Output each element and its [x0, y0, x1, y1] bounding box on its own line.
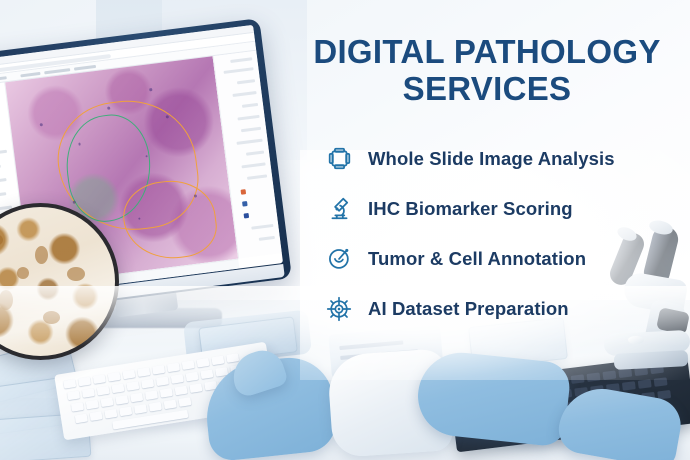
measure-color-swatch[interactable] [242, 201, 248, 207]
service-item-label: Whole Slide Image Analysis [368, 148, 615, 170]
measure-color-swatch[interactable] [244, 213, 250, 219]
service-item-ihc-biomarker-scoring[interactable]: IHC Biomarker Scoring [326, 184, 678, 234]
ihc-stain-blob [0, 234, 3, 246]
panel-row[interactable] [224, 67, 254, 74]
service-item-label: Tumor & Cell Annotation [368, 248, 586, 270]
panel-row[interactable] [241, 127, 261, 132]
service-item-label: AI Dataset Preparation [368, 298, 569, 320]
microscope-base [614, 350, 689, 370]
service-item-label: IHC Biomarker Scoring [368, 198, 573, 220]
panel-row[interactable] [232, 91, 256, 97]
microscope-stage-aperture [628, 336, 644, 344]
panel-row[interactable] [259, 236, 275, 241]
service-item-whole-slide-image-analysis[interactable]: Whole Slide Image Analysis [326, 134, 678, 184]
panel-row[interactable] [230, 57, 252, 63]
panel-row[interactable] [247, 174, 267, 179]
panel-row[interactable] [241, 162, 265, 168]
sidebar-row[interactable] [0, 165, 1, 172]
ihc-stain-blob [43, 311, 60, 324]
nuclei-speck [149, 89, 152, 92]
measure-color-swatch[interactable] [241, 189, 247, 195]
service-list: Whole Slide Image Analysis IHC Biomarker… [296, 134, 678, 334]
service-item-ai-dataset-preparation[interactable]: AI Dataset Preparation [326, 284, 678, 334]
panel-row[interactable] [237, 79, 255, 84]
panel-row[interactable] [242, 103, 258, 108]
poster-canvas: DIGITAL PATHOLOGY SERVICES Whole Slide I… [0, 0, 690, 460]
ihc-stain-blob [67, 267, 85, 281]
menu-item[interactable] [0, 76, 7, 81]
ihc-stain-blob [17, 267, 29, 279]
panel-row[interactable] [246, 151, 264, 156]
poster-content: DIGITAL PATHOLOGY SERVICES Whole Slide I… [296, 34, 678, 334]
microscope-icon [326, 196, 352, 222]
ihc-stain-blob [35, 246, 48, 264]
page-title: DIGITAL PATHOLOGY SERVICES [296, 34, 678, 108]
title-line-2: SERVICES [296, 71, 678, 108]
sidebar-row[interactable] [0, 192, 6, 199]
sidebar-row[interactable] [0, 178, 7, 185]
sidebar-row[interactable] [0, 150, 7, 158]
nuclei-speck [40, 123, 43, 126]
panel-row[interactable] [237, 139, 263, 145]
ihc-stain-blob [0, 290, 13, 310]
target-check-icon [326, 246, 352, 272]
nuclei-speck [107, 106, 110, 109]
menu-item[interactable] [20, 72, 40, 78]
service-item-tumor-cell-annotation[interactable]: Tumor & Cell Annotation [326, 234, 678, 284]
panel-row[interactable] [237, 115, 259, 121]
nuclei-speck [165, 115, 168, 118]
slide-label-strip [339, 340, 403, 350]
gear-target-icon [326, 296, 352, 322]
slide-frame-icon [326, 146, 352, 172]
nuclei-speck [78, 143, 81, 146]
panel-row[interactable] [251, 224, 273, 230]
menu-item[interactable] [74, 65, 96, 71]
title-line-1: DIGITAL PATHOLOGY [313, 33, 660, 70]
